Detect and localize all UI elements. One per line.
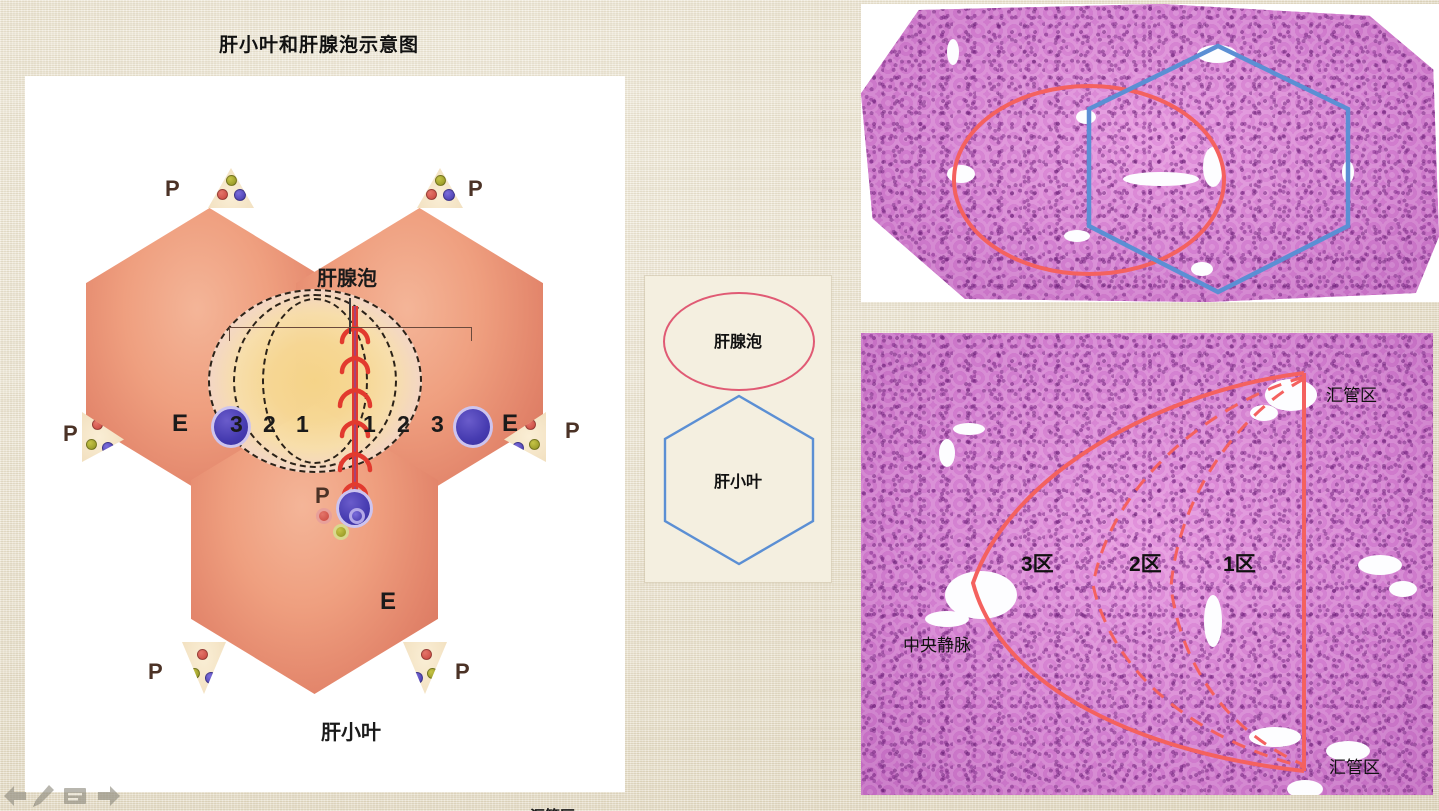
vein-marker-right: E xyxy=(502,410,518,438)
bile-duct-icon xyxy=(435,175,446,186)
portal-vein-icon xyxy=(443,189,455,201)
portal-marker-top-left: P xyxy=(165,176,180,202)
zone-2-label: 2区 xyxy=(1129,548,1162,578)
menu-icon[interactable] xyxy=(62,783,88,809)
previous-arrow-icon[interactable] xyxy=(2,783,28,809)
hepatic-artery-icon xyxy=(316,508,332,524)
slide-left-panel: 肝小叶和肝腺泡示意图 xyxy=(0,0,638,795)
diagram-canvas: P P P P P P P E E E 3 2 1 1 2 3 肝腺泡 肝小叶 … xyxy=(25,76,625,792)
portal-vein-icon xyxy=(205,672,217,684)
bile-duct-icon xyxy=(86,439,97,450)
zone-1-label: 1区 xyxy=(1223,548,1256,578)
acinus-label: 肝腺泡 xyxy=(317,262,377,291)
portal-marker-center: P xyxy=(315,483,330,509)
portal-vein-icon xyxy=(234,189,246,201)
portal-vein-icon xyxy=(349,508,365,524)
central-vein-label: 中央静脉 xyxy=(903,631,971,656)
vein-marker-bottom: E xyxy=(380,588,396,616)
zone-number-left-2: 2 xyxy=(263,411,276,438)
portal-marker-bottom-left: P xyxy=(148,659,163,685)
portal-area-label-bottom: 汇管区 xyxy=(1329,753,1380,778)
bile-duct-icon xyxy=(333,524,349,540)
portal-marker-mid-right: P xyxy=(565,418,580,444)
histology-image-overview xyxy=(861,4,1439,302)
bile-duct-icon xyxy=(529,439,540,450)
shape-legend-card: 肝腺泡 肝小叶 xyxy=(645,276,831,582)
histology-image-zones: 汇管区 汇管区 中央静脉 3区 2区 1区 xyxy=(861,333,1433,795)
hepatic-artery-icon xyxy=(197,649,208,660)
vein-marker-left: E xyxy=(172,410,188,438)
portal-triad-bottom-right xyxy=(403,642,447,694)
portal-area-label-top: 汇管区 xyxy=(1326,381,1377,406)
hepatic-artery-icon xyxy=(426,189,437,200)
hepatic-artery-icon xyxy=(217,189,228,200)
slideshow-nav-bar xyxy=(0,781,1439,811)
bile-duct-icon xyxy=(226,175,237,186)
portal-marker-mid-left: P xyxy=(63,421,78,447)
bile-duct-icon xyxy=(189,668,200,679)
acinus-bracket xyxy=(229,327,472,341)
hepatic-artery-icon xyxy=(421,649,432,660)
portal-vein-icon xyxy=(512,442,524,454)
portal-vein-icon xyxy=(102,442,114,454)
zone-3-label: 3区 xyxy=(1021,548,1054,578)
next-arrow-icon[interactable] xyxy=(96,783,122,809)
lobule-label: 肝小叶 xyxy=(321,716,381,745)
zone-number-right-3: 3 xyxy=(431,411,444,438)
portal-triad-top-right xyxy=(417,168,463,208)
portal-marker-bottom-right: P xyxy=(455,659,470,685)
central-vein-right xyxy=(453,406,493,448)
bile-duct-icon xyxy=(427,668,438,679)
portal-vein-icon xyxy=(411,672,423,684)
portal-marker-top-right: P xyxy=(468,176,483,202)
zone-number-right-2: 2 xyxy=(397,411,410,438)
zone-number-left-3: 3 xyxy=(230,411,243,438)
portal-triad-bottom-left xyxy=(182,642,226,694)
legend-lobule-label: 肝小叶 xyxy=(645,468,831,492)
portal-triad-top-left xyxy=(208,168,254,208)
pen-icon[interactable] xyxy=(30,783,56,809)
zone-number-right-1: 1 xyxy=(363,411,376,438)
page-title: 肝小叶和肝腺泡示意图 xyxy=(0,30,638,57)
zone-number-left-1: 1 xyxy=(296,411,309,438)
legend-acinus-label: 肝腺泡 xyxy=(645,328,831,352)
histo-top-overlays xyxy=(861,4,1439,302)
